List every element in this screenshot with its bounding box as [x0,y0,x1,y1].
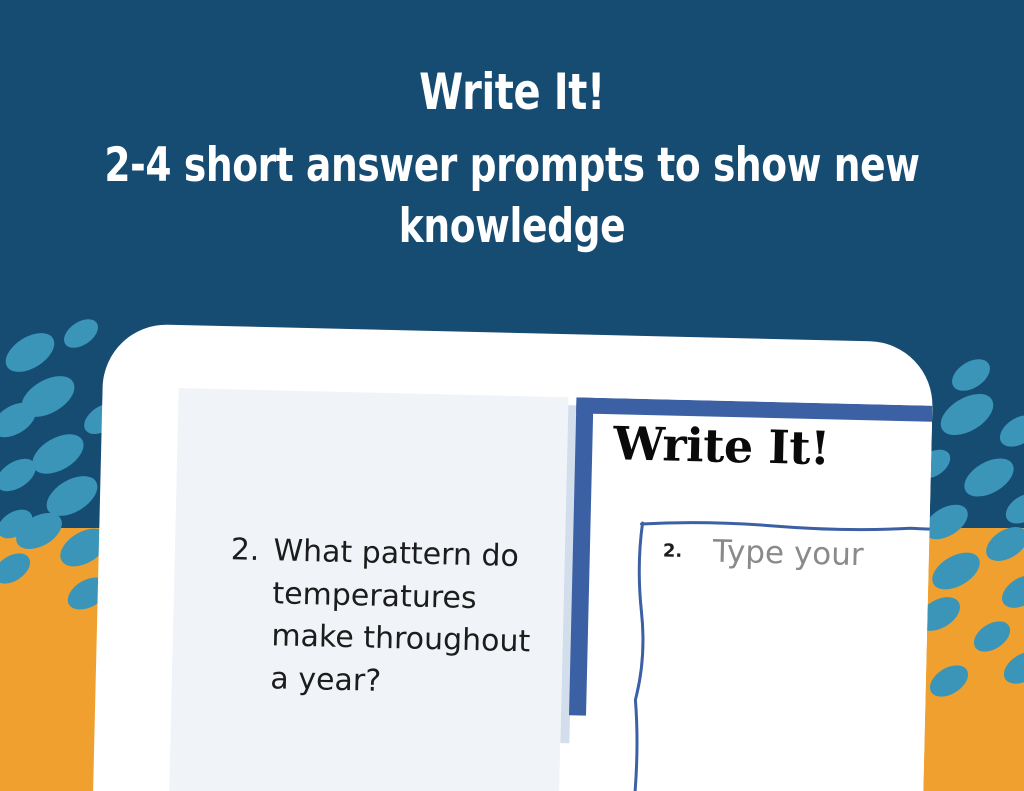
confetti-ellipse [934,385,1001,443]
answer-panel: Write It! 2. Type your [559,397,932,791]
page-title: Write It! [102,66,921,119]
heading-block: Write It! 2-4 short answer prompts to sh… [0,0,1024,257]
confetti-ellipse [1000,487,1024,529]
answer-panel-heading: Write It! [613,420,830,471]
slide-card: 2. What pattern do temperatures make thr… [93,323,934,791]
answer-number: 2. [663,540,683,561]
question-panel: 2. What pattern do temperatures make thr… [169,388,568,791]
confetti-ellipse [994,409,1024,453]
confetti-ellipse [0,325,61,380]
slide-card-surface: 2. What pattern do temperatures make thr… [93,323,934,791]
confetti-ellipse [946,353,995,398]
confetti-ellipse [15,368,82,426]
question-text-block: 2. What pattern do temperatures make thr… [227,529,547,707]
confetti-ellipse [59,313,103,353]
slide-canvas: Write It! 2-4 short answer prompts to sh… [0,0,1024,791]
question-number: 2. [227,529,260,700]
answer-placeholder-text: Type your [712,534,864,574]
confetti-ellipse [0,396,42,445]
confetti-ellipse [0,452,42,498]
confetti-ellipse [40,468,104,524]
confetti-ellipse [958,451,1020,505]
slide-content: 2. What pattern do temperatures make thr… [169,388,932,791]
confetti-ellipse [26,426,90,482]
answer-input-box[interactable]: 2. Type your [629,516,933,791]
page-subtitle: 2-4 short answer prompts to show new kno… [102,135,921,257]
question-body: What pattern do temperatures make throug… [270,530,547,707]
